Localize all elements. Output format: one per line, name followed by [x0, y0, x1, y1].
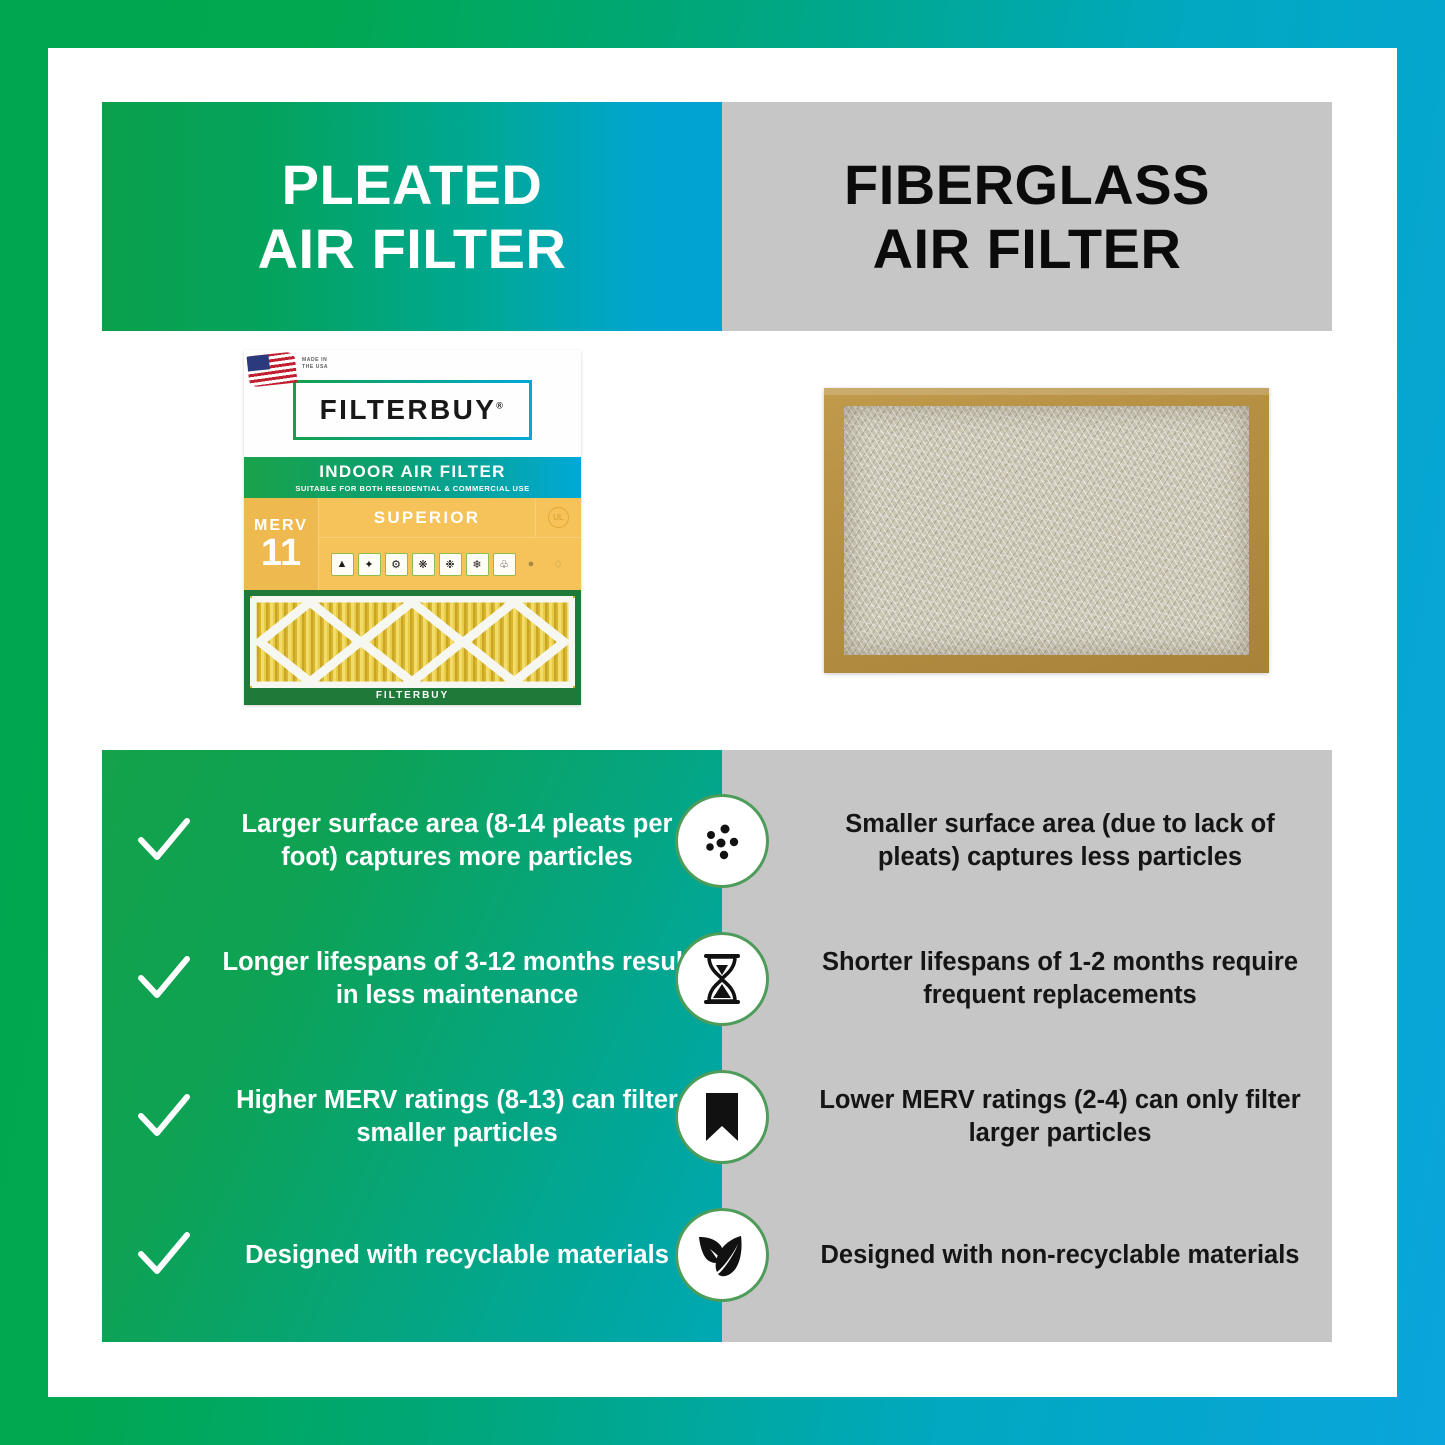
- header-fiberglass: FIBERGLASS AIR FILTER: [722, 102, 1332, 331]
- comparison-panel: Larger surface area (8-14 pleats per foo…: [102, 750, 1332, 1342]
- ribbon-icon: [675, 1070, 769, 1164]
- ul-badge-icon: UL: [548, 507, 569, 528]
- row-left-cell: Higher MERV ratings (8-13) can filter sm…: [102, 1084, 722, 1149]
- box-band-title: INDOOR AIR FILTER: [319, 462, 505, 482]
- row-right-text: Shorter lifespans of 1-2 months require …: [818, 946, 1302, 1011]
- check-icon: [136, 1089, 192, 1145]
- comparison-row: Designed with recyclable materials Desig…: [102, 1186, 1332, 1324]
- row-right-cell: Smaller surface area (due to lack of ple…: [722, 808, 1332, 873]
- comparison-row: Longer lifespans of 3-12 months result i…: [102, 910, 1332, 1048]
- box-tier-section: SUPERIOR UL ▲ ✦ ⚙ ❋ ❉: [319, 498, 581, 590]
- box-indoor-band: INDOOR AIR FILTER SUITABLE FOR BOTH RESI…: [244, 457, 581, 498]
- tier-label: SUPERIOR: [319, 508, 535, 528]
- row-left-cell: Larger surface area (8-14 pleats per foo…: [102, 808, 722, 873]
- mold-icon: ❉: [439, 553, 462, 576]
- box-band-subtitle: SUITABLE FOR BOTH RESIDENTIAL & COMMERCI…: [295, 484, 529, 493]
- row-right-cell: Designed with non-recyclable materials: [722, 1239, 1332, 1272]
- box-merv-section: MERV 11 SUPERIOR UL ▲: [244, 498, 581, 590]
- row-right-cell: Lower MERV ratings (2-4) can only filter…: [722, 1084, 1332, 1149]
- filterbuy-logo: FILTERBUY®: [293, 380, 533, 440]
- header-band: PLEATED AIR FILTER FIBERGLASS AIR FILTER: [102, 102, 1332, 331]
- pleat-texture: [250, 596, 575, 688]
- comparison-row: Larger surface area (8-14 pleats per foo…: [102, 772, 1332, 910]
- header-pleated: PLEATED AIR FILTER: [102, 102, 722, 331]
- pleated-title: PLEATED AIR FILTER: [258, 153, 567, 280]
- box-filter-media: FILTERBUY: [244, 590, 581, 705]
- row-left-text: Longer lifespans of 3-12 months result i…: [210, 946, 704, 1011]
- box-bottom-brand: FILTERBUY: [244, 690, 581, 701]
- comparison-rows: Larger surface area (8-14 pleats per foo…: [102, 750, 1332, 1342]
- fiberglass-title: FIBERGLASS AIR FILTER: [844, 153, 1210, 280]
- row-right-text: Designed with non-recyclable materials: [818, 1239, 1302, 1272]
- made-in-line2: THE USA: [302, 364, 328, 371]
- filterbuy-logo-text: FILTERBUY®: [320, 394, 506, 426]
- smog-icon: ♢: [547, 553, 570, 576]
- product-image-row: MADE IN THE USA FILTERBUY® INDOOR AIR FI…: [102, 331, 1332, 750]
- odor-icon: ●: [520, 553, 543, 576]
- comparison-stage: PLEATED AIR FILTER FIBERGLASS AIR FILTER…: [102, 102, 1332, 1342]
- filterbuy-box-image: MADE IN THE USA FILTERBUY® INDOOR AIR FI…: [244, 350, 581, 705]
- infographic-frame: PLEATED AIR FILTER FIBERGLASS AIR FILTER…: [0, 0, 1445, 1445]
- check-icon: [136, 1227, 192, 1283]
- pleated-product-cell: MADE IN THE USA FILTERBUY® INDOOR AIR FI…: [102, 331, 722, 750]
- merv-badge: MERV 11: [244, 498, 319, 590]
- ul-badge-wrap: UL: [535, 498, 581, 537]
- check-icon: [136, 951, 192, 1007]
- row-left-cell: Longer lifespans of 3-12 months result i…: [102, 946, 722, 1011]
- diamond-support-grid: [250, 596, 575, 688]
- fiberglass-filter-photo: [824, 388, 1269, 673]
- filter-capability-icons: ▲ ✦ ⚙ ❋ ❉ ❄ ♧ ● ♢: [319, 538, 581, 590]
- particles-icon: [675, 794, 769, 888]
- usa-flag-icon: [247, 352, 298, 388]
- row-left-text: Larger surface area (8-14 pleats per foo…: [210, 808, 704, 873]
- comparison-row: Higher MERV ratings (8-13) can filter sm…: [102, 1048, 1332, 1186]
- check-icon: [136, 813, 192, 869]
- row-right-text: Lower MERV ratings (2-4) can only filter…: [818, 1084, 1302, 1149]
- smoke-icon: ♧: [493, 553, 516, 576]
- row-left-text: Higher MERV ratings (8-13) can filter sm…: [210, 1084, 704, 1149]
- made-in-line1: MADE IN: [302, 357, 328, 364]
- row-left-text: Designed with recyclable materials: [210, 1239, 704, 1272]
- fiberglass-product-cell: [722, 331, 1332, 750]
- tier-row: SUPERIOR UL: [319, 498, 581, 538]
- fiberglass-mesh: [844, 406, 1249, 655]
- row-left-cell: Designed with recyclable materials: [102, 1227, 722, 1283]
- virus-icon: ⚙: [385, 553, 408, 576]
- hourglass-icon: [675, 932, 769, 1026]
- pet-dander-icon: ❄: [466, 553, 489, 576]
- made-in-usa-text: MADE IN THE USA: [302, 357, 328, 372]
- row-right-text: Smaller surface area (due to lack of ple…: [818, 808, 1302, 873]
- pollen-icon: ❋: [412, 553, 435, 576]
- row-right-cell: Shorter lifespans of 1-2 months require …: [722, 946, 1332, 1011]
- bacteria-icon: ✦: [358, 553, 381, 576]
- leaf-icon: [675, 1208, 769, 1302]
- box-header-white: MADE IN THE USA FILTERBUY®: [244, 350, 581, 457]
- dust-icon: ▲: [331, 553, 354, 576]
- merv-value: 11: [261, 535, 301, 571]
